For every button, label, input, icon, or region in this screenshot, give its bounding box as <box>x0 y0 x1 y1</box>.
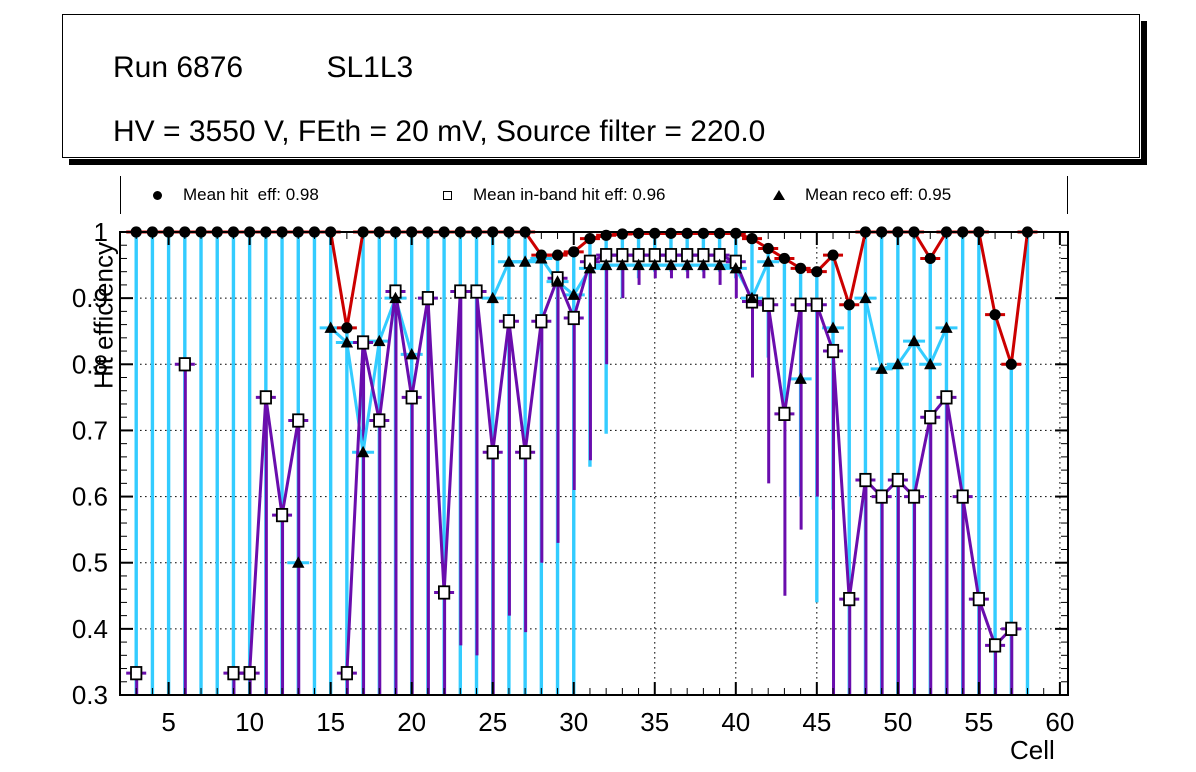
marker-hit-eff <box>811 266 822 277</box>
marker-hit-eff <box>568 246 579 257</box>
marker-inband-hit-eff <box>957 490 967 502</box>
marker-inband-hit-eff <box>228 667 238 679</box>
x-tick-label: 35 <box>640 707 669 737</box>
y-tick-label: 0.4 <box>72 614 108 644</box>
marker-hit-eff <box>552 250 563 261</box>
x-tick-label: 10 <box>235 707 264 737</box>
y-tick-label: 1 <box>94 217 108 247</box>
marker-inband-hit-eff <box>244 667 254 679</box>
marker-inband-hit-eff <box>439 586 449 598</box>
marker-inband-hit-eff <box>488 446 498 458</box>
marker-inband-hit-eff <box>504 315 514 327</box>
marker-hit-eff <box>795 263 806 274</box>
marker-inband-hit-eff <box>909 490 919 502</box>
marker-inband-hit-eff <box>763 299 773 311</box>
x-tick-label: 30 <box>559 707 588 737</box>
y-tick-label: 0.3 <box>72 680 108 710</box>
marker-inband-hit-eff <box>893 474 903 486</box>
x-tick-label: 5 <box>161 707 175 737</box>
marker-inband-hit-eff <box>828 345 838 357</box>
marker-inband-hit-eff <box>990 639 1000 651</box>
efficiency-scatter-plot: 0.30.40.50.60.70.80.91510152025303540455… <box>0 0 1196 772</box>
marker-hit-eff <box>536 250 547 261</box>
marker-hit-eff <box>763 243 774 254</box>
y-tick-label: 0.6 <box>72 482 108 512</box>
y-tick-label: 0.7 <box>72 415 108 445</box>
x-tick-label: 50 <box>883 707 912 737</box>
marker-inband-hit-eff <box>844 593 854 605</box>
x-tick-label: 25 <box>478 707 507 737</box>
marker-hit-eff <box>779 253 790 264</box>
x-tick-label: 20 <box>397 707 426 737</box>
marker-inband-hit-eff <box>925 411 935 423</box>
marker-inband-hit-eff <box>795 299 805 311</box>
marker-inband-hit-eff <box>277 509 287 521</box>
marker-hit-eff <box>827 250 838 261</box>
marker-inband-hit-eff <box>1006 623 1016 635</box>
connector-lines <box>136 232 1027 673</box>
marker-inband-hit-eff <box>520 446 530 458</box>
marker-inband-hit-eff <box>536 315 546 327</box>
marker-inband-hit-eff <box>406 391 416 403</box>
marker-inband-hit-eff <box>569 312 579 324</box>
marker-inband-hit-eff <box>423 292 433 304</box>
x-tick-label: 45 <box>802 707 831 737</box>
marker-inband-hit-eff <box>876 490 886 502</box>
marker-inband-hit-eff <box>358 336 368 348</box>
marker-inband-hit-eff <box>860 474 870 486</box>
y-tick-label: 0.9 <box>72 283 108 313</box>
marker-inband-hit-eff <box>180 358 190 370</box>
marker-hit-eff <box>989 309 1000 320</box>
x-tick-label: 55 <box>964 707 993 737</box>
marker-inband-hit-eff <box>293 414 303 426</box>
marker-inband-hit-eff <box>374 414 384 426</box>
marker-inband-hit-eff <box>941 391 951 403</box>
marker-inband-hit-eff <box>131 667 141 679</box>
marker-inband-hit-eff <box>812 299 822 311</box>
y-tick-label: 0.8 <box>72 349 108 379</box>
x-tick-label: 60 <box>1045 707 1074 737</box>
marker-inband-hit-eff <box>471 285 481 297</box>
marker-inband-hit-eff <box>455 285 465 297</box>
marker-hit-eff <box>1006 359 1017 370</box>
x-tick-label: 40 <box>721 707 750 737</box>
x-tick-label: 15 <box>316 707 345 737</box>
y-tick-label: 0.5 <box>72 548 108 578</box>
marker-inband-hit-eff <box>261 391 271 403</box>
marker-inband-hit-eff <box>974 593 984 605</box>
marker-inband-hit-eff <box>342 667 352 679</box>
marker-hit-eff <box>844 299 855 310</box>
marker-hit-eff <box>925 253 936 264</box>
marker-inband-hit-eff <box>779 408 789 420</box>
marker-hit-eff <box>341 322 352 333</box>
